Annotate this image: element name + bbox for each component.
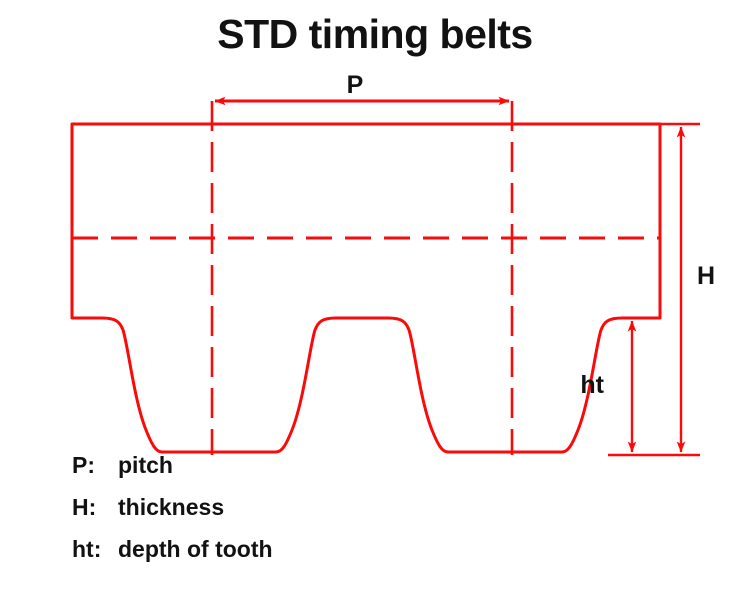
legend-item-thickness: H: thickness — [72, 494, 492, 536]
legend-symbol-pitch: P: — [72, 452, 118, 479]
centerlines — [72, 101, 660, 455]
pitch-dimension-label: P — [347, 71, 364, 99]
legend-description-pitch: pitch — [118, 452, 492, 479]
legend-item-pitch: P: pitch — [72, 452, 492, 494]
belt-outline — [72, 124, 660, 452]
legend-item-tooth-depth: ht: depth of tooth — [72, 536, 492, 578]
tooth-depth-dimension-label: ht — [580, 371, 604, 399]
thickness-dimension: H — [608, 124, 715, 455]
legend-symbol-tooth-depth: ht: — [72, 536, 118, 563]
tooth-depth-dimension: ht — [580, 318, 652, 452]
legend-description-thickness: thickness — [118, 494, 492, 521]
legend: P: pitch H: thickness ht: depth of tooth — [72, 452, 492, 578]
diagram-page: STD timing belts P H — [0, 0, 750, 592]
pitch-dimension: P — [215, 71, 509, 101]
legend-description-tooth-depth: depth of tooth — [118, 536, 492, 563]
belt-cross-section-path — [72, 124, 660, 452]
thickness-dimension-label: H — [697, 262, 715, 290]
legend-symbol-thickness: H: — [72, 494, 118, 521]
